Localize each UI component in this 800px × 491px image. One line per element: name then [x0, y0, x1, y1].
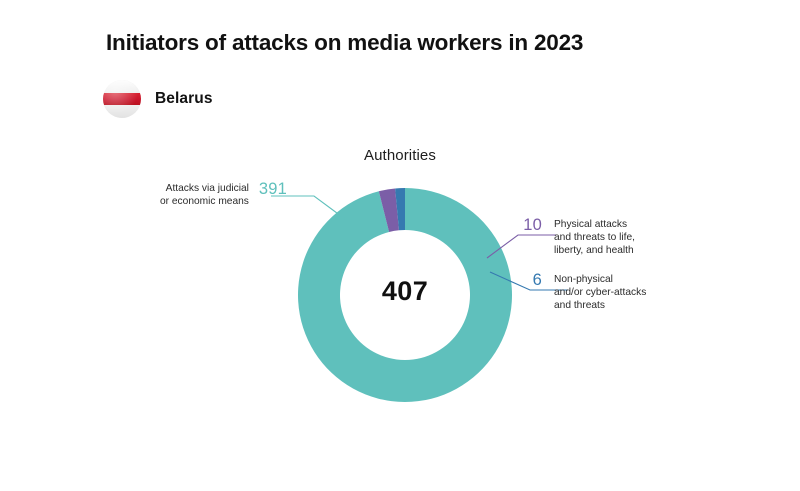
country-label: Belarus — [155, 90, 213, 108]
callout-cyber: 6 Non-physical and/or cyber-attacks and … — [520, 271, 646, 313]
donut-chart — [0, 0, 800, 491]
callout-judicial-label: Attacks via judicial or economic means — [160, 180, 249, 208]
donut-slice-physical — [379, 188, 399, 232]
flag-stripe-white-bottom — [103, 105, 141, 118]
page-title: Initiators of attacks on media workers i… — [106, 30, 583, 56]
chart-subtitle: Authorities — [0, 147, 800, 164]
callout-physical-label-line2: and threats to life, — [554, 231, 635, 244]
flag-stripe-red — [103, 93, 141, 106]
country-row: Belarus — [103, 80, 213, 118]
callout-physical-label-line1: Physical attacks — [554, 218, 635, 231]
callout-physical: 10 Physical attacks and threats to life,… — [520, 216, 635, 258]
callout-cyber-label-line1: Non-physical — [554, 273, 646, 286]
callout-physical-value: 10 — [520, 216, 542, 234]
callout-judicial-value: 391 — [259, 180, 287, 198]
callout-cyber-value: 6 — [520, 271, 542, 289]
donut-center-value: 407 — [345, 276, 465, 307]
donut-slice-cyber — [395, 188, 405, 230]
callout-cyber-label-line2: and/or cyber-attacks — [554, 286, 646, 299]
callout-judicial: Attacks via judicial or economic means 3… — [160, 180, 287, 208]
chart-page: Initiators of attacks on media workers i… — [0, 0, 800, 491]
callout-cyber-label-line3: and threats — [554, 299, 646, 312]
callout-judicial-label-line2: or economic means — [160, 195, 249, 208]
callout-physical-label: Physical attacks and threats to life, li… — [554, 216, 635, 258]
callout-cyber-label: Non-physical and/or cyber-attacks and th… — [554, 271, 646, 313]
callout-physical-label-line3: liberty, and health — [554, 244, 635, 257]
belarus-flag-circle-icon — [103, 80, 141, 118]
callout-judicial-label-line1: Attacks via judicial — [160, 182, 249, 195]
callout-leader-lines — [0, 0, 800, 491]
